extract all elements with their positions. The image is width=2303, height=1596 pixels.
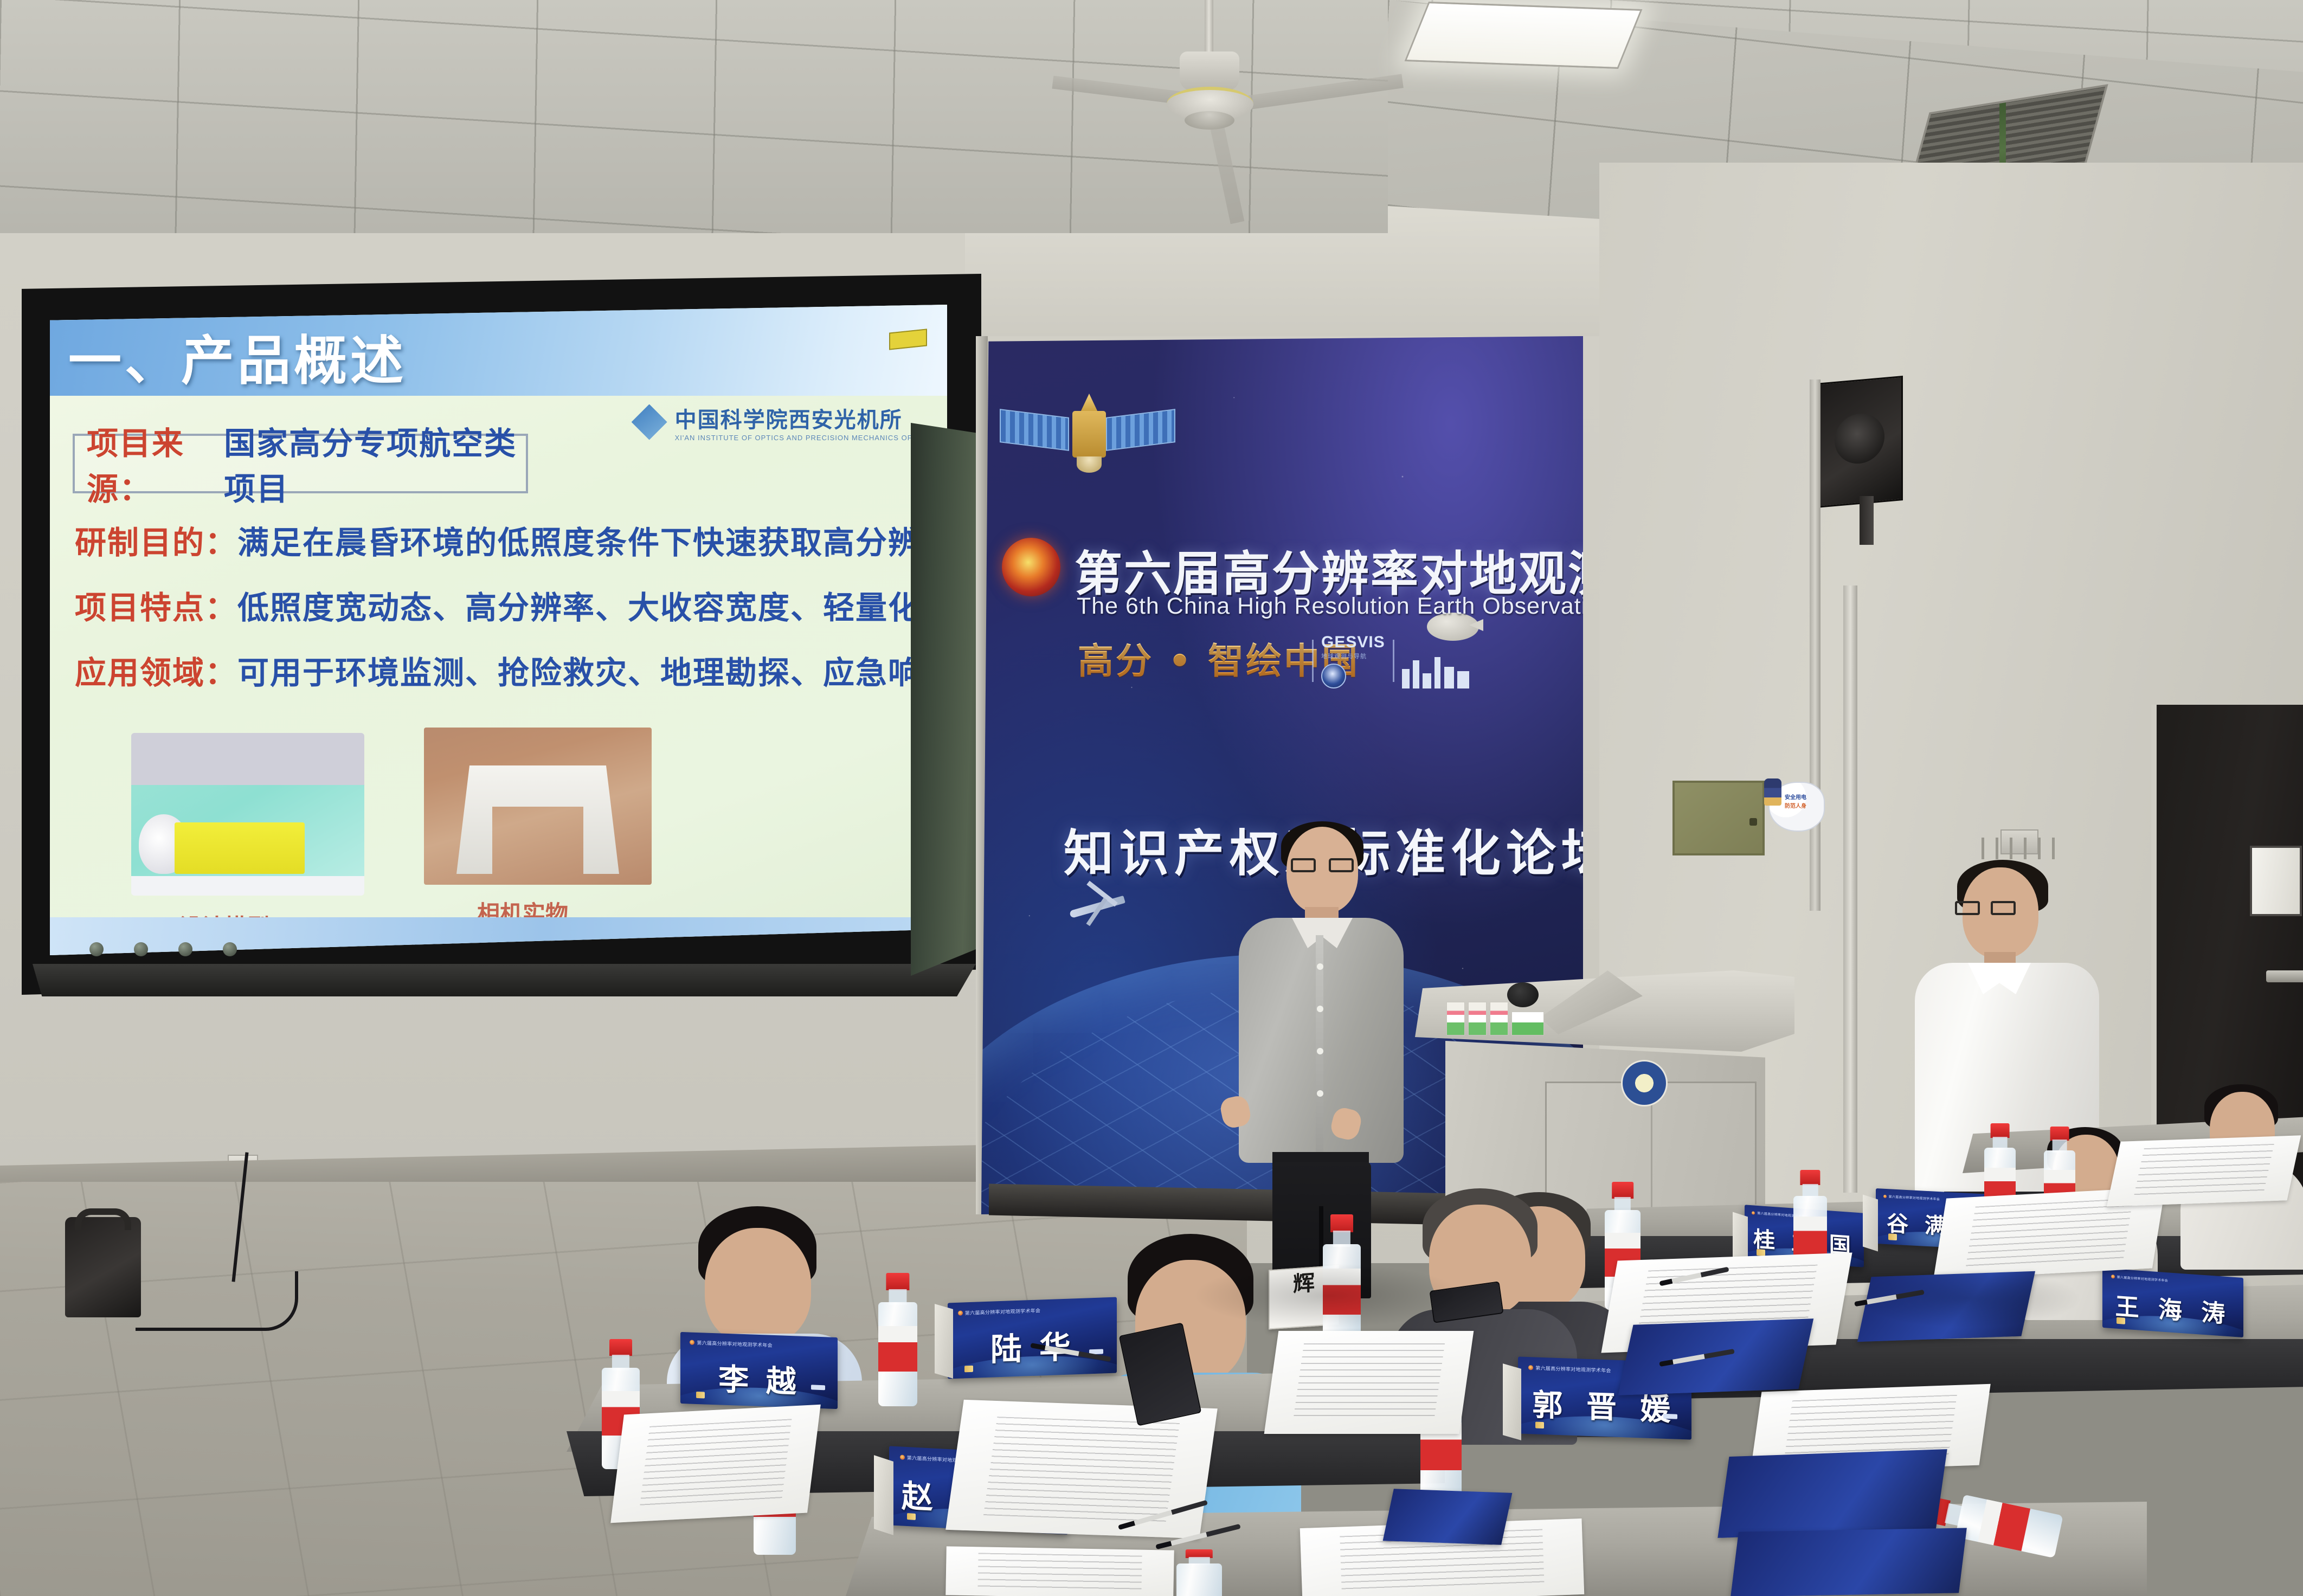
bottle-cap bbox=[2050, 1127, 2069, 1141]
podium-emblem-icon bbox=[1621, 1060, 1668, 1106]
wall-upper-band bbox=[965, 233, 1670, 336]
speaker-bracket bbox=[1860, 496, 1874, 545]
name-card-header: 第六届高分辨率对地观测学术年会 bbox=[690, 1338, 773, 1348]
bottle-label bbox=[1793, 1217, 1827, 1256]
tissue-box bbox=[1446, 1002, 1465, 1035]
utility-box-icon[interactable] bbox=[1672, 781, 1765, 855]
bottle-cap bbox=[1612, 1182, 1633, 1199]
tissue-box bbox=[1468, 1002, 1487, 1035]
gesvis-logo-text: GESVIS bbox=[1321, 633, 1385, 652]
slide-source-box: 项目来源： 国家高分专项航空类项目 bbox=[73, 434, 528, 493]
bottle-cap bbox=[609, 1339, 632, 1356]
slide-title: 一、产品概述 bbox=[68, 318, 407, 395]
conference-booklet bbox=[1731, 1528, 1967, 1596]
water-bottle[interactable] bbox=[878, 1273, 917, 1406]
slide-figure-design-model bbox=[131, 733, 364, 896]
gesvis-logo: GESVIS 地球观测与导航 bbox=[1321, 633, 1385, 688]
slide-row-label: 应用领域： bbox=[75, 647, 237, 693]
paper-text-lines bbox=[1965, 1199, 2133, 1269]
wall-conduit-pipe bbox=[1843, 585, 1857, 1193]
handout-paper bbox=[945, 1400, 1218, 1539]
name-card-fold bbox=[935, 1304, 953, 1379]
wall-conduit-pipe bbox=[1810, 379, 1820, 911]
ceiling-fan-icon bbox=[1180, 52, 1239, 91]
slide-row-label: 项目来源： bbox=[87, 418, 224, 509]
slide-row: 应用领域： 可用于环境监测、抢险救灾、地理勘探、应急响应、反恐维稳等行业领域。 bbox=[75, 647, 947, 693]
slide-row-text: 低照度宽动态、高分辨率、大收容宽度、轻量化、低畸变； bbox=[237, 582, 947, 628]
name-card-header: 第六届高分辨率对地观测学术年会 bbox=[1883, 1194, 1940, 1201]
logo-divider bbox=[1312, 640, 1314, 682]
sticker-line-2: 防范人身 bbox=[1785, 801, 1806, 809]
amplifier-cable bbox=[136, 1271, 298, 1331]
satellite-icon bbox=[2117, 1317, 2125, 1324]
slide-row-text: 可用于环境监测、抢险救灾、地理勘探、应急响应、反恐维稳等行业领域。 bbox=[237, 647, 947, 693]
safety-figure-icon bbox=[1764, 778, 1781, 806]
water-bottle[interactable] bbox=[1176, 1549, 1222, 1596]
slide-row-label: 研制目的： bbox=[75, 517, 237, 563]
slide-row: 项目特点： 低照度宽动态、高分辨率、大收容宽度、轻量化、低畸变； bbox=[75, 582, 947, 628]
slide-row-label: 项目特点： bbox=[75, 582, 237, 628]
screen-mount-dot bbox=[89, 942, 104, 956]
satellite-antenna bbox=[1080, 394, 1098, 413]
conference-booklet bbox=[1383, 1489, 1513, 1545]
name-card-header: 第六届高分辨率对地观测学术年会 bbox=[1528, 1364, 1611, 1374]
screen-mount-dot bbox=[223, 942, 237, 956]
city-skyline-icon bbox=[1402, 655, 1472, 688]
satellite-icon bbox=[696, 1392, 705, 1399]
satellite-icon bbox=[907, 1513, 916, 1520]
presentation-slide: 一、产品概述 中国科学院西安光机所 XI'AN INSTITUTE OF OPT… bbox=[50, 305, 947, 955]
conference-emblem-icon bbox=[1752, 1211, 1755, 1214]
presenter-button bbox=[1317, 1090, 1323, 1097]
projection-screen: 一、产品概述 中国科学院西安光机所 XI'AN INSTITUTE OF OPT… bbox=[50, 305, 947, 955]
backdrop-logo-group: GESVIS 地球观测与导航 bbox=[1312, 633, 1472, 688]
name-card: 第六届高分辨率对地观测学术年会 李 越 bbox=[680, 1332, 838, 1409]
name-card-header-text: 第六届高分辨率对地观测学术年会 bbox=[965, 1307, 1041, 1316]
slide-row-text: 国家高分专项航空类项目 bbox=[224, 418, 526, 509]
audience-head bbox=[705, 1228, 811, 1344]
handout-paper bbox=[2107, 1135, 2301, 1206]
name-card-chip bbox=[1663, 1414, 1677, 1419]
conference-booklet bbox=[1717, 1449, 1947, 1538]
presenter-glasses-icon bbox=[1291, 858, 1354, 872]
handout-paper bbox=[945, 1546, 1174, 1596]
logo-divider bbox=[1393, 640, 1394, 682]
screen-mount-dot bbox=[178, 942, 192, 956]
satellite-icon bbox=[1888, 1233, 1897, 1240]
paper-text-lines bbox=[640, 1419, 792, 1508]
bottle-cap bbox=[1186, 1549, 1213, 1558]
satellite-icon bbox=[1535, 1421, 1544, 1428]
institute-mark-icon bbox=[632, 404, 667, 440]
tissue-box bbox=[1490, 1002, 1508, 1035]
satellite-body bbox=[1072, 411, 1106, 458]
paper-text-lines bbox=[983, 1417, 1180, 1522]
bottle-cap bbox=[886, 1273, 909, 1290]
satellite-panel bbox=[1106, 409, 1175, 451]
door-handle[interactable] bbox=[2266, 970, 2303, 982]
backdrop-title-en: The 6th China High Resolution Earth Obse… bbox=[1077, 593, 1583, 620]
conference-emblem-icon bbox=[2111, 1275, 2115, 1278]
presenter-button bbox=[1317, 1006, 1323, 1012]
conference-emblem-icon bbox=[958, 1310, 963, 1315]
name-card-header: 第六届高分辨率对地观测学术年会 bbox=[958, 1307, 1041, 1316]
name-card-header-text: 第六届高分辨率对地观测学术年会 bbox=[1889, 1194, 1940, 1201]
bottle-cap bbox=[1330, 1214, 1353, 1232]
bottle-label bbox=[878, 1326, 917, 1372]
bottle-body bbox=[1176, 1563, 1222, 1596]
floor-shadow bbox=[1854, 1269, 2082, 1328]
name-card-fold bbox=[874, 1455, 893, 1535]
name-card-header-text: 第六届高分辨率对地观测学术年会 bbox=[697, 1339, 773, 1349]
name-card-chip bbox=[811, 1385, 825, 1390]
sticker-line-1: 安全用电 bbox=[1785, 793, 1806, 801]
airplane-icon bbox=[1057, 884, 1133, 927]
satellite-dish bbox=[1077, 456, 1102, 473]
conference-room-scene: 安全用电 防范人身 一、产品概述 中国科学院西安光机所 XI'AN INSTIT… bbox=[0, 0, 2303, 1596]
wall-hook-rail bbox=[1982, 838, 2057, 859]
name-card-header-text: 第六届高分辨率对地观测学术年会 bbox=[2117, 1275, 2169, 1283]
presenter-button bbox=[1317, 1048, 1323, 1054]
conference-emblem-icon bbox=[900, 1455, 905, 1460]
name-card: 第六届高分辨率对地观测学术年会 陆 华 bbox=[948, 1297, 1117, 1379]
safety-sticker: 安全用电 防范人身 bbox=[1768, 782, 1825, 832]
portable-amplifier-icon[interactable] bbox=[65, 1217, 141, 1317]
conference-emblem-icon bbox=[1883, 1194, 1887, 1198]
name-card-header: 第六届高分辨率对地观测学术年会 bbox=[2111, 1274, 2169, 1283]
handout-paper bbox=[1264, 1331, 1474, 1434]
satellite-panel bbox=[1000, 409, 1069, 451]
institute-logo: 中国科学院西安光机所 XI'AN INSTITUTE OF OPTICS AND… bbox=[632, 402, 931, 442]
door-window bbox=[2250, 846, 2302, 916]
floor-shadow bbox=[1193, 1263, 1464, 1328]
slide-figure-camera-photo bbox=[424, 728, 652, 885]
wall-speaker-icon bbox=[1816, 376, 1903, 508]
satellite-icon bbox=[964, 1366, 973, 1373]
institute-name: 中国科学院西安光机所 bbox=[675, 402, 931, 434]
slide-row: 研制目的： 满足在晨昏环境的低照度条件下快速获取高分辨率、宽幅图像的应用需求； bbox=[75, 517, 947, 563]
name-card-fold bbox=[1863, 1194, 1878, 1251]
name-card-header-text: 第六届高分辨率对地观测学术年会 bbox=[1535, 1364, 1611, 1374]
paper-text-lines bbox=[2133, 1144, 2274, 1198]
bottle-cap bbox=[1800, 1170, 1820, 1185]
gesvis-logo-subtext: 地球观测与导航 bbox=[1321, 652, 1367, 660]
slide-row-text: 满足在晨昏环境的低照度条件下快速获取高分辨率、宽幅图像的应用需求； bbox=[237, 517, 947, 563]
podium-tissue-boxes bbox=[1446, 1002, 1544, 1035]
conference-emblem-icon bbox=[690, 1340, 694, 1344]
institute-name-en: XI'AN INSTITUTE OF OPTICS AND PRECISION … bbox=[675, 434, 931, 442]
bottle-label bbox=[1978, 1500, 2030, 1551]
observer-glasses-icon bbox=[1955, 901, 2016, 915]
screen-mount-dot bbox=[134, 942, 148, 956]
bottle-cap bbox=[1991, 1123, 2010, 1138]
handout-paper bbox=[610, 1405, 821, 1523]
presenter bbox=[1223, 827, 1418, 1298]
ceiling-fan-rod bbox=[1205, 0, 1213, 54]
name-card-fold bbox=[1503, 1363, 1521, 1440]
name-card: 第六届高分辨率对地观测学术年会 王 海 涛 bbox=[2102, 1268, 2243, 1337]
paper-text-lines bbox=[1293, 1343, 1445, 1421]
projection-screen-bottom-bar bbox=[33, 964, 976, 996]
paper-text-lines bbox=[977, 1553, 1142, 1593]
screen-mount-dots bbox=[89, 942, 263, 964]
organization-seal-icon bbox=[1321, 664, 1346, 688]
amplifier-handle bbox=[75, 1208, 131, 1230]
ceiling-light-icon bbox=[1405, 2, 1643, 69]
presenter-button bbox=[1317, 963, 1323, 970]
ceiling-fan-cap bbox=[1185, 111, 1234, 130]
conference-booklet bbox=[1618, 1318, 1814, 1395]
satellite-icon bbox=[1757, 1249, 1765, 1256]
satellite-icon bbox=[998, 385, 1176, 488]
speaker-cone bbox=[1835, 411, 1884, 466]
tissue-box bbox=[1511, 1012, 1544, 1035]
conference-emblem-icon bbox=[1002, 538, 1060, 596]
conference-emblem-icon bbox=[1528, 1365, 1533, 1370]
